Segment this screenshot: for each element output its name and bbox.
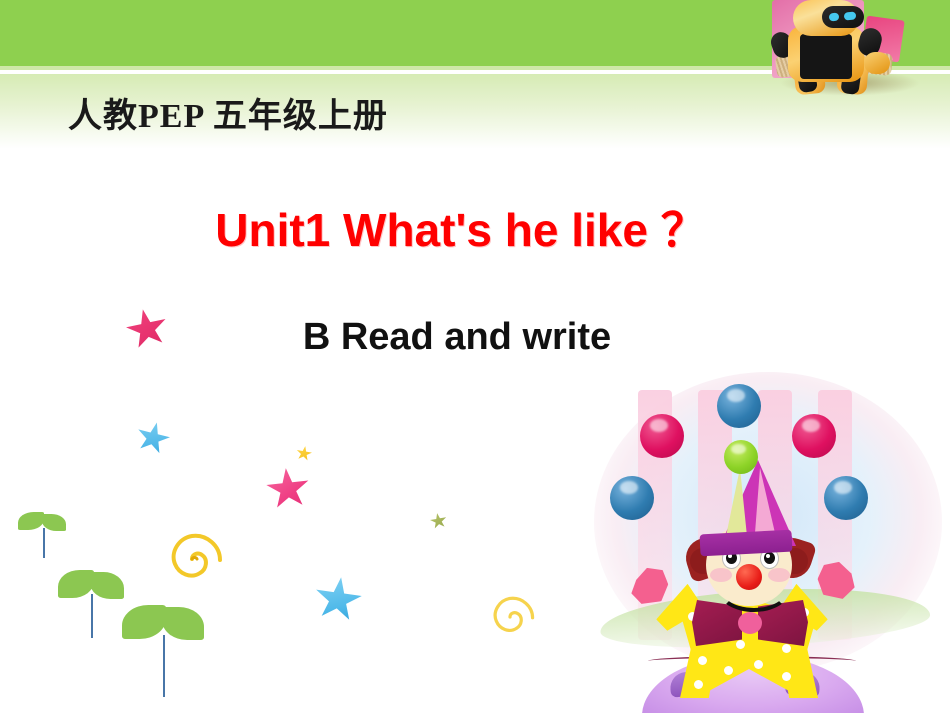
suit-dot [782, 672, 791, 681]
presentation-slide: 人教PEP 五年级上册 Unit1 What's he like ？ B Rea… [0, 0, 950, 713]
suit-dot [694, 680, 703, 689]
spiral-gold-small-icon [484, 592, 536, 642]
ball-blue-top-icon [717, 384, 761, 428]
sprout-medium-stem [91, 594, 93, 638]
sprout-small-stem [43, 528, 45, 558]
robot-hand-right [864, 52, 890, 74]
robot-screen-panel [800, 34, 852, 79]
juggling-clown-illustration [586, 372, 950, 713]
star-olive-tiny-icon [429, 512, 449, 531]
sprout-small-leaf-left [18, 512, 44, 530]
page-title-text: Unit1 What's he like ？ [215, 204, 706, 256]
ball-blue-left-icon [610, 476, 654, 520]
suit-dot [724, 666, 733, 675]
textbook-edition-label: 人教PEP 五年级上册 [68, 88, 388, 137]
star-blue-small-icon [133, 418, 174, 457]
bowtie-knot [738, 612, 762, 634]
star-blue-large-icon [311, 574, 365, 625]
ball-blue-right-icon [824, 476, 868, 520]
sprout-large-stem [163, 635, 165, 697]
suit-dot [698, 656, 707, 665]
ball-green-hat-icon [724, 440, 758, 474]
spiral-gold-large-icon [160, 528, 224, 590]
clown-nose-icon [736, 564, 762, 590]
suit-dot [754, 660, 763, 669]
page-title: Unit1 What's he like ？ [0, 194, 950, 260]
robot-mascot [760, 0, 945, 104]
clown-pupil-right [764, 552, 775, 564]
page-subtitle-text: B Read and write [303, 316, 611, 358]
sprout-medium-leaf-right [90, 572, 124, 599]
sprout-medium-leaf-left [58, 570, 94, 598]
ball-crimson-right-icon [792, 414, 836, 458]
sprout-large-leaf-left [122, 605, 166, 639]
sprout-small-leaf-right [42, 514, 66, 531]
ball-crimson-left-icon [640, 414, 684, 458]
star-yellow-tiny-icon [295, 445, 313, 463]
star-pink-mid-icon [264, 466, 312, 512]
sprout-large-leaf-right [162, 607, 204, 640]
